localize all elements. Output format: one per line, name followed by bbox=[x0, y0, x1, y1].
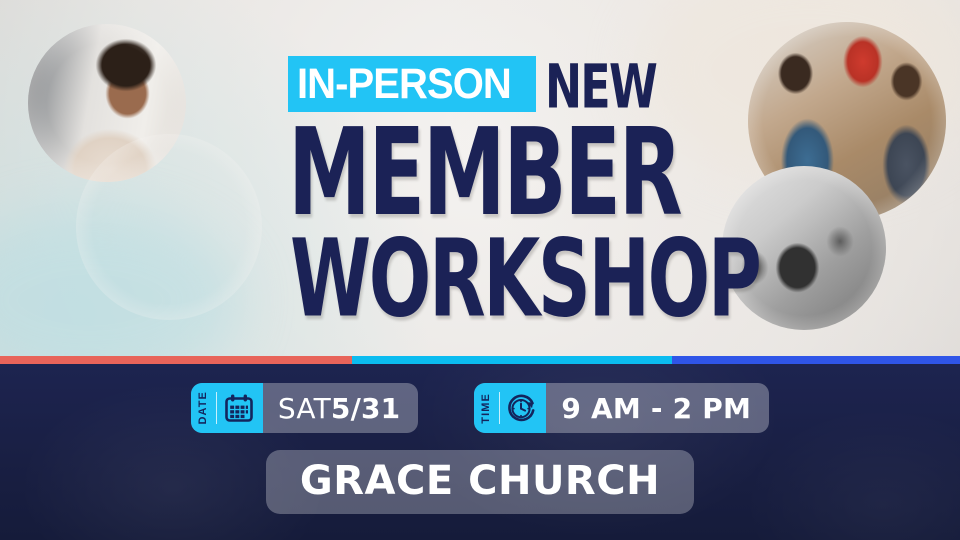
time-badge-tag-group: TIME bbox=[474, 383, 546, 433]
photo-man-reading-book bbox=[76, 134, 262, 320]
time-badge-value-group: 9 AM - 2 PM bbox=[546, 383, 769, 433]
date-badge-tag-group: DATE bbox=[191, 383, 263, 433]
accent-stripe-red bbox=[0, 356, 352, 364]
clock-icon bbox=[507, 393, 537, 423]
time-badge-value: 9 AM - 2 PM bbox=[561, 392, 751, 425]
photo-man-reading-book-image bbox=[76, 134, 262, 320]
accent-stripe-blue bbox=[672, 356, 960, 364]
accent-stripe-cyan bbox=[352, 356, 672, 364]
date-badge-date: 5/31 bbox=[331, 392, 400, 425]
headline-line-member: MEMBER bbox=[288, 112, 680, 233]
date-badge: DATE bbox=[191, 383, 418, 433]
hero-background: IN-PERSON NEW MEMBER WORKSHOP bbox=[0, 0, 960, 356]
calendar-icon bbox=[224, 393, 254, 423]
flyer-canvas: IN-PERSON NEW MEMBER WORKSHOP DATE bbox=[0, 0, 960, 540]
date-badge-value-group: SAT 5/31 bbox=[263, 383, 418, 433]
venue-row: GRACE CHURCH bbox=[0, 450, 960, 514]
headline-line-workshop: WORKSHOP bbox=[290, 226, 759, 333]
date-badge-day: SAT bbox=[278, 392, 331, 425]
headline-block: IN-PERSON NEW MEMBER WORKSHOP bbox=[288, 56, 708, 114]
time-badge-tag-label: TIME bbox=[481, 393, 492, 424]
accent-stripe bbox=[0, 356, 960, 364]
time-badge: TIME bbox=[474, 383, 769, 433]
event-details-row: DATE bbox=[0, 383, 960, 433]
time-badge-divider bbox=[499, 392, 500, 424]
date-badge-tag-label: DATE bbox=[198, 391, 209, 425]
venue-name: GRACE CHURCH bbox=[266, 450, 694, 514]
details-band: DATE bbox=[0, 364, 960, 540]
in-person-label: IN-PERSON bbox=[297, 63, 511, 106]
date-badge-divider bbox=[216, 392, 217, 424]
